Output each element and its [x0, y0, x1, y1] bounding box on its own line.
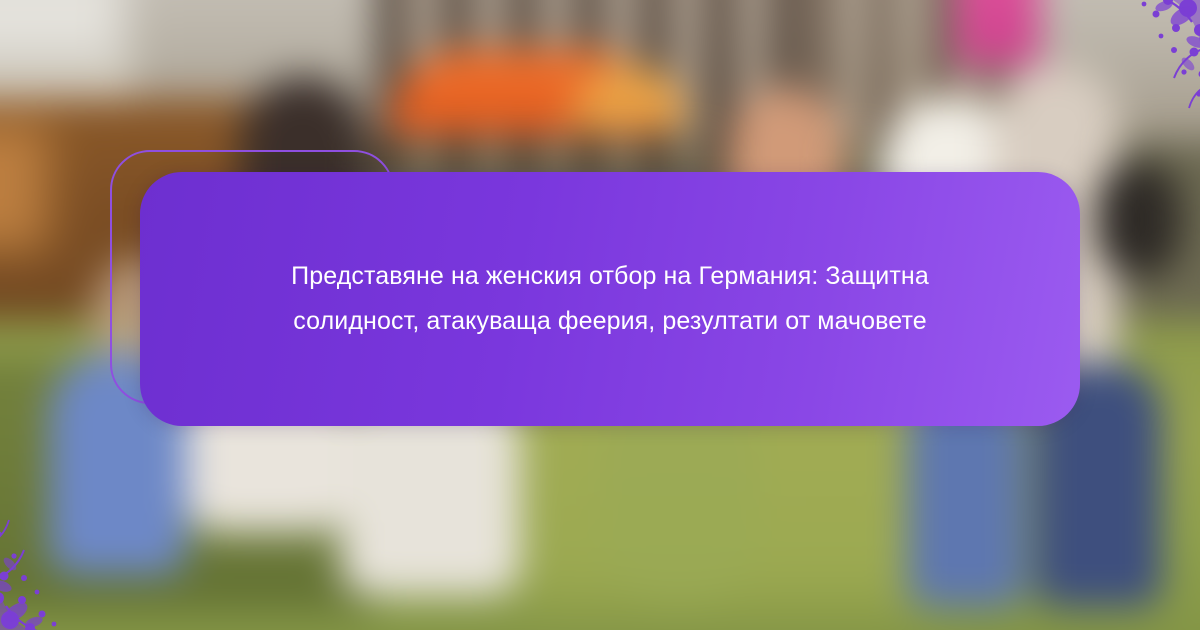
page-title: Представяне на женския отбор на Германия…: [206, 254, 1014, 345]
photo-person-blob: [1096, 161, 1181, 278]
title-card: Представяне на женския отбор на Германия…: [140, 172, 1080, 426]
photo-building-highlight: [0, 0, 112, 50]
share-card-canvas: Представяне на женския отбор на Германия…: [0, 0, 1200, 630]
photo-pink-banner: [955, 0, 1040, 66]
photo-person-blob: [600, 395, 759, 607]
photo-wall-highlight: [0, 124, 49, 251]
